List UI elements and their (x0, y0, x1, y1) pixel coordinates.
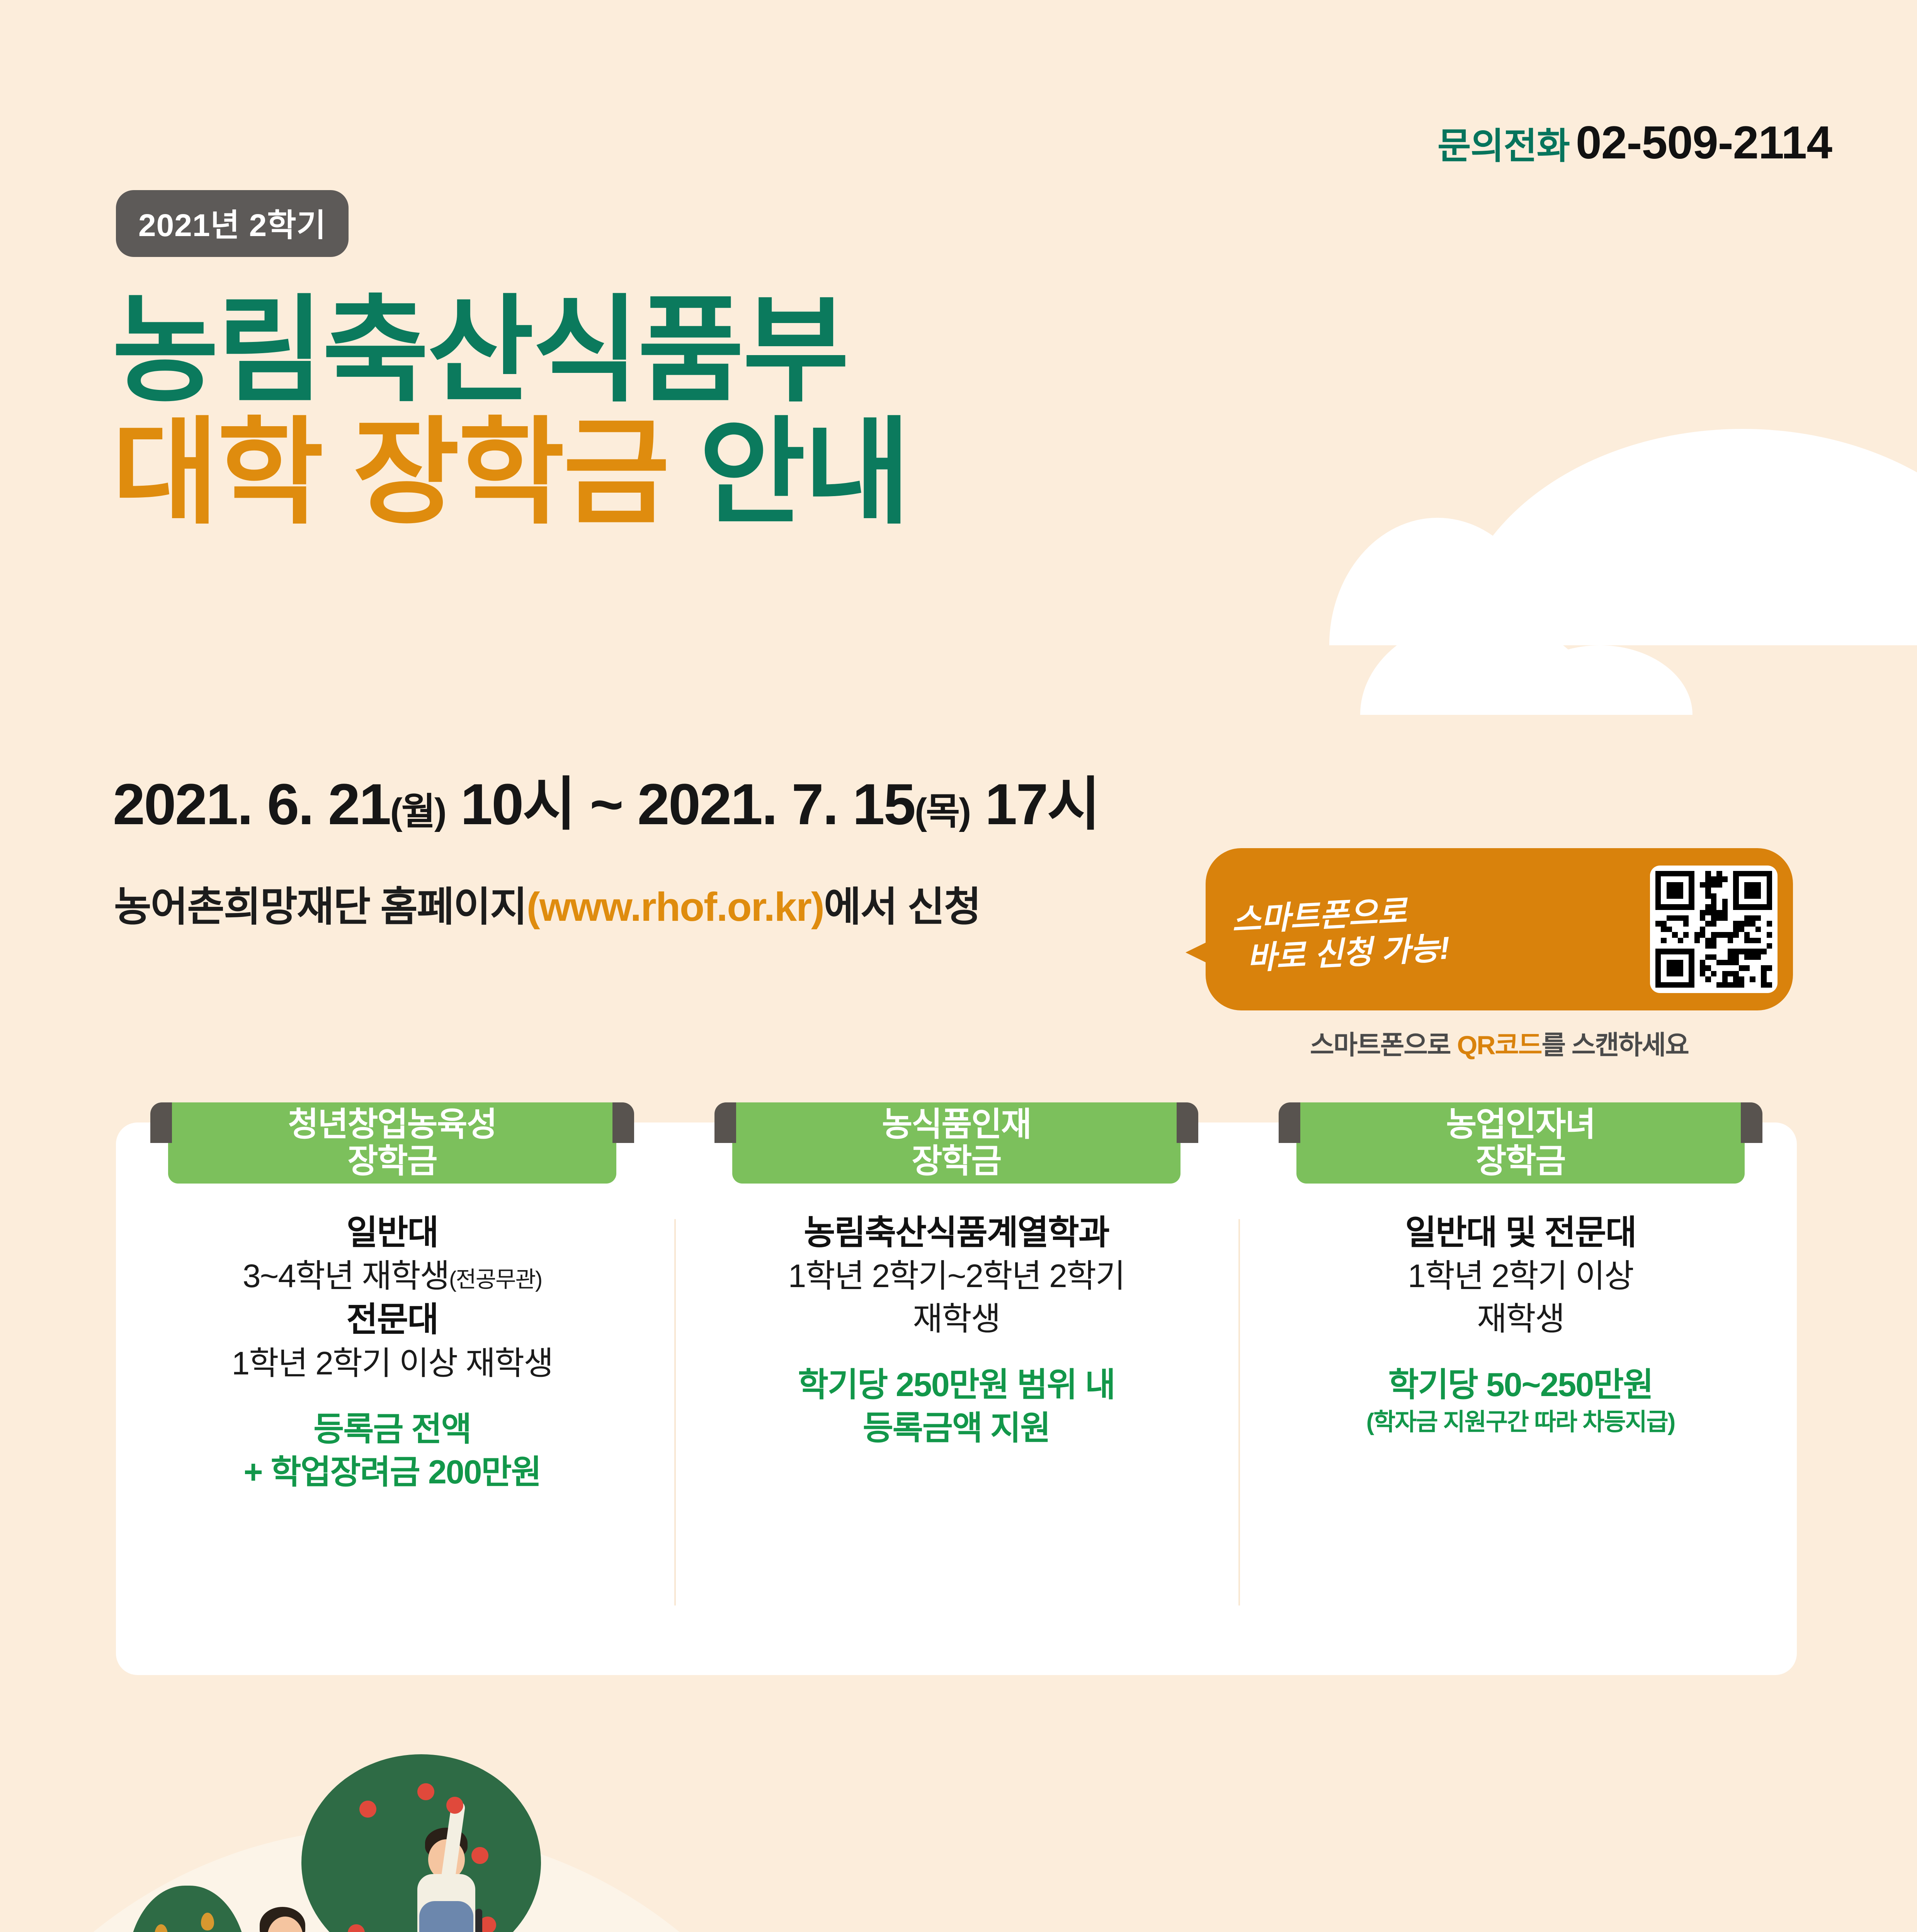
tab-1-line-1: 청년창업농육성 (288, 1106, 497, 1143)
col-2-body-1: 1학년 2학기~2학년 2학기 (705, 1255, 1208, 1298)
col-2-body-2: 재학생 (705, 1298, 1208, 1340)
period-start-time: 10시 ~ (446, 772, 637, 837)
col-3-body-1: 1학년 2학기 이상 (1269, 1255, 1772, 1298)
pin-icon (714, 1102, 736, 1143)
application-site: 농어촌희망재단 홈페이지(www.rhof.or.kr)에서 신청 (114, 874, 981, 933)
semester-badge: 2021년 2학기 (116, 190, 349, 257)
page-title: 농림축산식품부 대학 장학금 안내 (112, 294, 909, 529)
pear-icon (201, 1913, 214, 1930)
apple-icon (359, 1801, 376, 1818)
title-line-2-orange: 대학 장학금 (112, 408, 668, 537)
col-1-body-2: 1학년 2학기 이상 재학생 (141, 1342, 643, 1385)
scholarship-tab-1[interactable]: 청년창업농육성 장학금 (168, 1102, 616, 1184)
qr-caption-highlight: QR코드 (1457, 1031, 1541, 1060)
col-1-head-1: 일반대 (141, 1211, 643, 1255)
site-prefix: 농어촌희망재단 홈페이지 (114, 884, 527, 930)
scholarship-tabs: 청년창업농육성 장학금 농식품인재 장학금 농업인자녀 장학금 (116, 1102, 1797, 1184)
ladder-rail (475, 1909, 482, 1932)
col-3-amount-line-1: 학기당 50~250만원 (1388, 1366, 1653, 1403)
tab-2-line-1: 농식품인재 (882, 1106, 1031, 1143)
scholarship-column-2: 농림축산식품계열학과 1학년 2학기~2학년 2학기 재학생 학기당 250만원… (705, 1211, 1208, 1450)
scholarship-tab-2[interactable]: 농식품인재 장학금 (732, 1102, 1180, 1184)
qr-caption-pre: 스마트폰으로 (1310, 1031, 1457, 1060)
col-1-head-2: 전문대 (141, 1298, 643, 1342)
phone-number: 02-509-2114 (1576, 117, 1832, 168)
phone-label: 문의전화 (1437, 126, 1570, 166)
period-start-day: (월) (390, 791, 446, 832)
pin-icon (1741, 1102, 1762, 1143)
col-3-amount-note: (학자금 지원구간 따라 차등지급) (1269, 1407, 1772, 1438)
period-end-day: (목) (915, 791, 970, 832)
application-period: 2021. 6. 21(월) 10시 ~ 2021. 7. 15(목) 17시 (113, 757, 1099, 841)
qr-bubble-line-1: 스마트폰으로 (1231, 894, 1408, 939)
title-line-2: 대학 장학금 안내 (112, 416, 909, 529)
qr-section: 스마트폰으로 바로 신청 가능! 스마트폰으로 QR코드를 스캔하세요 (1206, 848, 1793, 1062)
col-1-body-1: 3~4학년 재학생(전공무관) (141, 1255, 643, 1298)
col-3-amount: 학기당 50~250만원 (학자금 지원구간 따라 차등지급) (1269, 1364, 1772, 1438)
tab-2-line-2: 장학금 (912, 1143, 1001, 1180)
qr-speech-bubble: 스마트폰으로 바로 신청 가능! (1206, 848, 1793, 1010)
pin-icon (150, 1102, 172, 1143)
period-start-date: 2021. 6. 21 (113, 772, 390, 837)
apple-icon (471, 1847, 488, 1864)
apple-icon (417, 1783, 434, 1800)
col-3-head-1: 일반대 및 전문대 (1269, 1211, 1772, 1255)
col-1-body-1-text: 3~4학년 재학생 (243, 1258, 449, 1294)
qr-bubble-text: 스마트폰으로 바로 신청 가능! (1231, 880, 1652, 979)
col-1-amount-line-2: + 학업장려금 200만원 (243, 1454, 541, 1491)
qr-caption-post: 를 스캔하세요 (1542, 1031, 1689, 1060)
cloud-icon (1453, 429, 1917, 645)
pin-icon (1177, 1102, 1198, 1143)
poster-root: 문의전화02-509-2114 2021년 2학기 농림축산식품부 대학 장학금… (0, 0, 1917, 1932)
col-3-body-2: 재학생 (1269, 1298, 1772, 1340)
card-divider (674, 1219, 676, 1605)
pin-icon (1279, 1102, 1300, 1143)
col-2-amount: 학기당 250만원 범위 내 등록금액 지원 (705, 1364, 1208, 1450)
contact-phone: 문의전화02-509-2114 (1437, 116, 1832, 169)
site-url-link[interactable]: (www.rhof.or.kr) (527, 884, 824, 930)
tab-3-line-2: 장학금 (1476, 1143, 1565, 1180)
title-line-2-green: 안내 (699, 408, 909, 537)
card-divider (1238, 1219, 1240, 1605)
scholarship-card-panel: 청년창업농육성 장학금 농식품인재 장학금 농업인자녀 장학금 일반대 3~4학… (116, 1122, 1797, 1675)
col-2-amount-line-2: 등록금액 지원 (863, 1410, 1050, 1447)
col-1-amount-line-1: 등록금 전액 (313, 1411, 471, 1448)
qr-code-matrix (1655, 871, 1772, 988)
col-2-head-1: 농림축산식품계열학과 (705, 1211, 1208, 1255)
apple-icon (446, 1797, 463, 1814)
qr-code[interactable] (1650, 866, 1778, 993)
tab-3-line-1: 농업인자녀 (1446, 1106, 1595, 1143)
farm-illustration (0, 1731, 1917, 1932)
tab-1-line-2: 장학금 (347, 1143, 437, 1180)
col-1-body-1-note: (전공무관) (449, 1267, 542, 1292)
site-suffix: 에서 신청 (824, 884, 981, 930)
qr-caption: 스마트폰으로 QR코드를 스캔하세요 (1206, 1024, 1793, 1062)
title-line-1: 농림축산식품부 (112, 294, 909, 407)
period-end-date: 2021. 7. 15 (637, 772, 915, 837)
period-end-time: 17시 (970, 772, 1099, 837)
overalls (419, 1901, 473, 1932)
col-1-amount: 등록금 전액 + 학업장려금 200만원 (141, 1408, 643, 1495)
pin-icon (612, 1102, 634, 1143)
scholarship-tab-3[interactable]: 농업인자녀 장학금 (1296, 1102, 1745, 1184)
col-2-amount-line-1: 학기당 250만원 범위 내 (798, 1366, 1115, 1403)
scholarship-column-1: 일반대 3~4학년 재학생(전공무관) 전문대 1학년 2학기 이상 재학생 등… (141, 1211, 643, 1494)
scholarship-column-3: 일반대 및 전문대 1학년 2학기 이상 재학생 학기당 50~250만원 (학… (1269, 1211, 1772, 1438)
